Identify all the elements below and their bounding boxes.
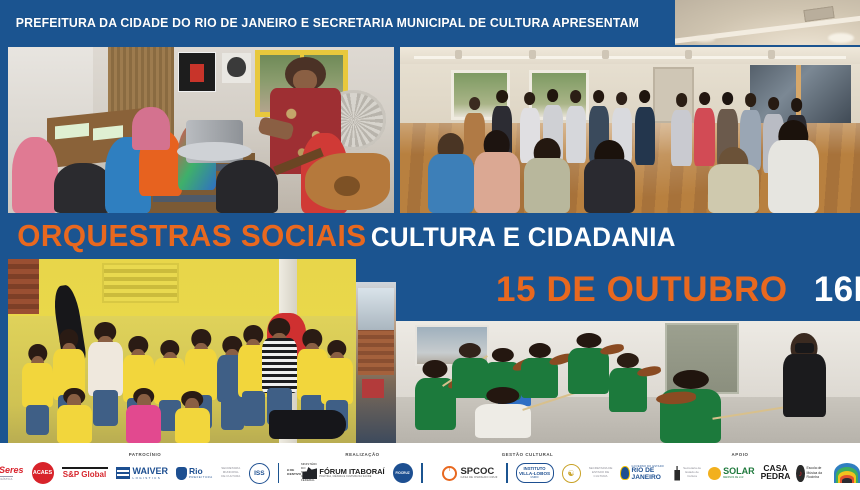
sponsor-footer: PATROCÍNIO grupoSeres TRANSPORTE E LOGÍS… bbox=[0, 443, 860, 490]
choir-member-foreground bbox=[584, 140, 635, 213]
footer-group-realizacao: REALIZAÇÃO FÓRUM ITABORAÍ POLÍTICA, CIÊN… bbox=[290, 443, 435, 490]
event-time: 16H bbox=[788, 270, 860, 310]
group-brick-wall bbox=[8, 259, 39, 314]
photo-group-yellow-shirts bbox=[8, 259, 356, 443]
logo-text: Secretaria de Estado de Cultura bbox=[682, 467, 702, 478]
photo-music-classroom bbox=[8, 47, 394, 213]
choir-member bbox=[671, 93, 691, 166]
logo-text: WAIVER bbox=[133, 467, 169, 476]
choir-member-foreground bbox=[524, 138, 570, 213]
logo-text: ISS bbox=[254, 470, 264, 477]
violin-case-icon bbox=[269, 410, 346, 439]
classroom-child bbox=[216, 160, 278, 213]
ceiling-photo-strip bbox=[675, 0, 860, 45]
logo-text: SECRETARIA MUNICIPAL DE CULTURA bbox=[221, 467, 241, 478]
logo-text: FÓRUM ITABORAÍ bbox=[319, 468, 384, 476]
face-mask-icon bbox=[795, 343, 814, 352]
logo-subtext: LOGISTICS bbox=[133, 476, 169, 480]
logo-text: RIO DE JANEIRO bbox=[632, 468, 669, 481]
photo-choir-rehearsal-hall bbox=[400, 47, 860, 213]
footer-group-gestao-cultural: GESTÃO CULTURAL SPCOC CASA DE OSWALDO CR… bbox=[435, 443, 620, 490]
logo-casa-da-pedra[interactable]: CASA PEDRA bbox=[761, 461, 791, 485]
violin-student bbox=[609, 353, 646, 424]
hall-ceiling bbox=[400, 47, 860, 64]
culture-pillar-icon bbox=[674, 466, 680, 481]
logo-subtext: PREFEITURA bbox=[189, 475, 213, 479]
logo-subtext: MENINOS DE LUZ bbox=[723, 476, 755, 479]
logo-secretaria-estado-cultura[interactable]: SECRETARIA DE ESTADO DE CULTURA bbox=[589, 461, 613, 485]
presenter-banner: PREFEITURA DA CIDADE DO RIO DE JANEIRO E… bbox=[0, 0, 675, 45]
footer-group-label: PATROCÍNIO bbox=[129, 452, 161, 457]
logo-escola-de-musica-da-rocinha[interactable]: ♪ Escola de Música da Rocinha bbox=[796, 461, 828, 485]
rio-shield-icon bbox=[176, 467, 187, 480]
violin-student bbox=[521, 343, 558, 406]
group-child bbox=[22, 344, 53, 443]
choir-member-foreground bbox=[428, 133, 474, 213]
logo-secretaria-cultura[interactable]: Secretaria de Estado de Cultura bbox=[674, 461, 702, 485]
choir-member bbox=[635, 90, 655, 165]
logo-accent-text: PEDRA bbox=[761, 473, 791, 481]
violin-student bbox=[415, 360, 457, 443]
logo-unirio-seal[interactable]: ☯ bbox=[562, 461, 581, 485]
classroom-child bbox=[12, 137, 58, 213]
logo-sp-global[interactable]: S&P Global bbox=[62, 461, 108, 485]
violin-teacher bbox=[781, 333, 827, 435]
photo-room-sliver bbox=[356, 282, 396, 443]
classroom-guitar-icon bbox=[305, 153, 390, 209]
title-band: ORQUESTRAS SOCIAIS CULTURA E CIDADANIA bbox=[0, 213, 860, 259]
logo-fiocruz[interactable]: FIOCRUZ bbox=[393, 461, 413, 485]
event-date: 15 DE OUTUBRO bbox=[396, 270, 788, 310]
footer-group-label: GESTÃO CULTURAL bbox=[502, 452, 554, 457]
logo-waiver-logistics[interactable]: WAIVER LOGISTICS bbox=[116, 461, 169, 485]
classroom-child bbox=[54, 163, 112, 213]
logo-text: SECRETARIA DE ESTADO DE CULTURA bbox=[589, 467, 613, 478]
logo-text: Rio bbox=[189, 467, 213, 476]
poster-root: PREFEITURA DA CIDADE DO RIO DE JANEIRO E… bbox=[0, 0, 860, 490]
logo-text: ACAES bbox=[33, 470, 52, 476]
page-title: ORQUESTRAS SOCIAIS bbox=[17, 218, 366, 253]
classroom-paper bbox=[55, 123, 89, 140]
logo-instituto-villa-lobos[interactable]: INSTITUTO VILLA-LOBOS UNIRIO bbox=[516, 461, 554, 485]
choir-member-foreground bbox=[474, 130, 520, 213]
group-child-front bbox=[126, 388, 161, 443]
classroom-drum-icon bbox=[186, 120, 244, 163]
group-shutter bbox=[102, 263, 179, 303]
ceiling-lamp bbox=[828, 33, 854, 43]
logo-solar[interactable]: SOLAR MENINOS DE LUZ bbox=[708, 461, 755, 485]
logo-rainbow[interactable] bbox=[834, 461, 860, 485]
logo-spcoc[interactable]: SPCOC CASA DE OSWALDO CRUZ bbox=[442, 461, 497, 485]
rainbow-arc-icon bbox=[834, 463, 860, 483]
logo-text: SOLAR bbox=[723, 467, 755, 476]
logo-text: Escola de Música da Rocinha bbox=[807, 466, 828, 479]
logo-grupo-seres[interactable]: grupoSeres TRANSPORTE E LOGÍSTICA bbox=[0, 461, 24, 485]
classroom-poster-portrait bbox=[222, 53, 251, 83]
footer-group-label: APOIO bbox=[732, 452, 749, 457]
logo-governo-rio-de-janeiro[interactable]: GOVERNO DO ESTADO RIO DE JANEIRO bbox=[620, 461, 668, 485]
classroom-child bbox=[132, 107, 171, 150]
footer-group-label: REALIZAÇÃO bbox=[345, 452, 379, 457]
logo-subtext: TRANSPORTE E LOGÍSTICA bbox=[0, 476, 13, 481]
footer-group-apoio: APOIO GOVERNO DO ESTADO RIO DE JANEIRO S… bbox=[620, 443, 860, 490]
footer-divider bbox=[421, 463, 423, 483]
presenter-line: PREFEITURA DA CIDADE DO RIO DE JANEIRO E… bbox=[0, 15, 639, 30]
logo-secretaria-municipal-cultura[interactable]: SECRETARIA MUNICIPAL DE CULTURA bbox=[221, 461, 241, 485]
logo-acaes[interactable]: ACAES bbox=[32, 461, 54, 485]
logo-subtext: CASA DE OSWALDO CRUZ bbox=[460, 476, 497, 479]
forum-building-icon bbox=[302, 467, 317, 479]
logo-iss[interactable]: ISS bbox=[249, 461, 270, 485]
footer-divider bbox=[506, 463, 508, 483]
event-date-band: 15 DE OUTUBRO 16H bbox=[396, 259, 860, 321]
logo-text: FIOCRUZ bbox=[396, 471, 410, 475]
choir-member-foreground bbox=[768, 120, 819, 213]
rj-crest-icon bbox=[620, 466, 630, 480]
footer-divider bbox=[278, 463, 279, 483]
logo-rio-prefeitura[interactable]: Rio PREFEITURA bbox=[176, 461, 213, 485]
ceiling-lamp-secondary bbox=[693, 36, 715, 42]
logo-text: S&P Global bbox=[63, 470, 106, 479]
choir-member-foreground bbox=[708, 147, 759, 213]
logo-accent-text: Seres bbox=[0, 465, 24, 475]
page-subtitle: CULTURA E CIDADANIA bbox=[371, 222, 676, 252]
group-child-front bbox=[175, 391, 210, 443]
group-teen bbox=[88, 322, 123, 443]
logo-forum-itaborai[interactable]: FÓRUM ITABORAÍ POLÍTICA, CIÊNCIA E CULTU… bbox=[302, 461, 384, 485]
group-child-front bbox=[57, 388, 92, 443]
logo-subtext: UNIRIO bbox=[531, 477, 539, 479]
classroom-poster-red bbox=[178, 52, 217, 92]
photo-violin-class bbox=[396, 321, 860, 443]
solar-sun-icon bbox=[708, 467, 721, 480]
waiver-mark-icon bbox=[116, 467, 130, 479]
spcoc-sun-icon bbox=[442, 466, 457, 481]
logo-text: SPCOC bbox=[460, 467, 497, 477]
violin-student-foreground bbox=[660, 370, 720, 443]
footer-group-patrocinio: PATROCÍNIO grupoSeres TRANSPORTE E LOGÍS… bbox=[0, 443, 290, 490]
